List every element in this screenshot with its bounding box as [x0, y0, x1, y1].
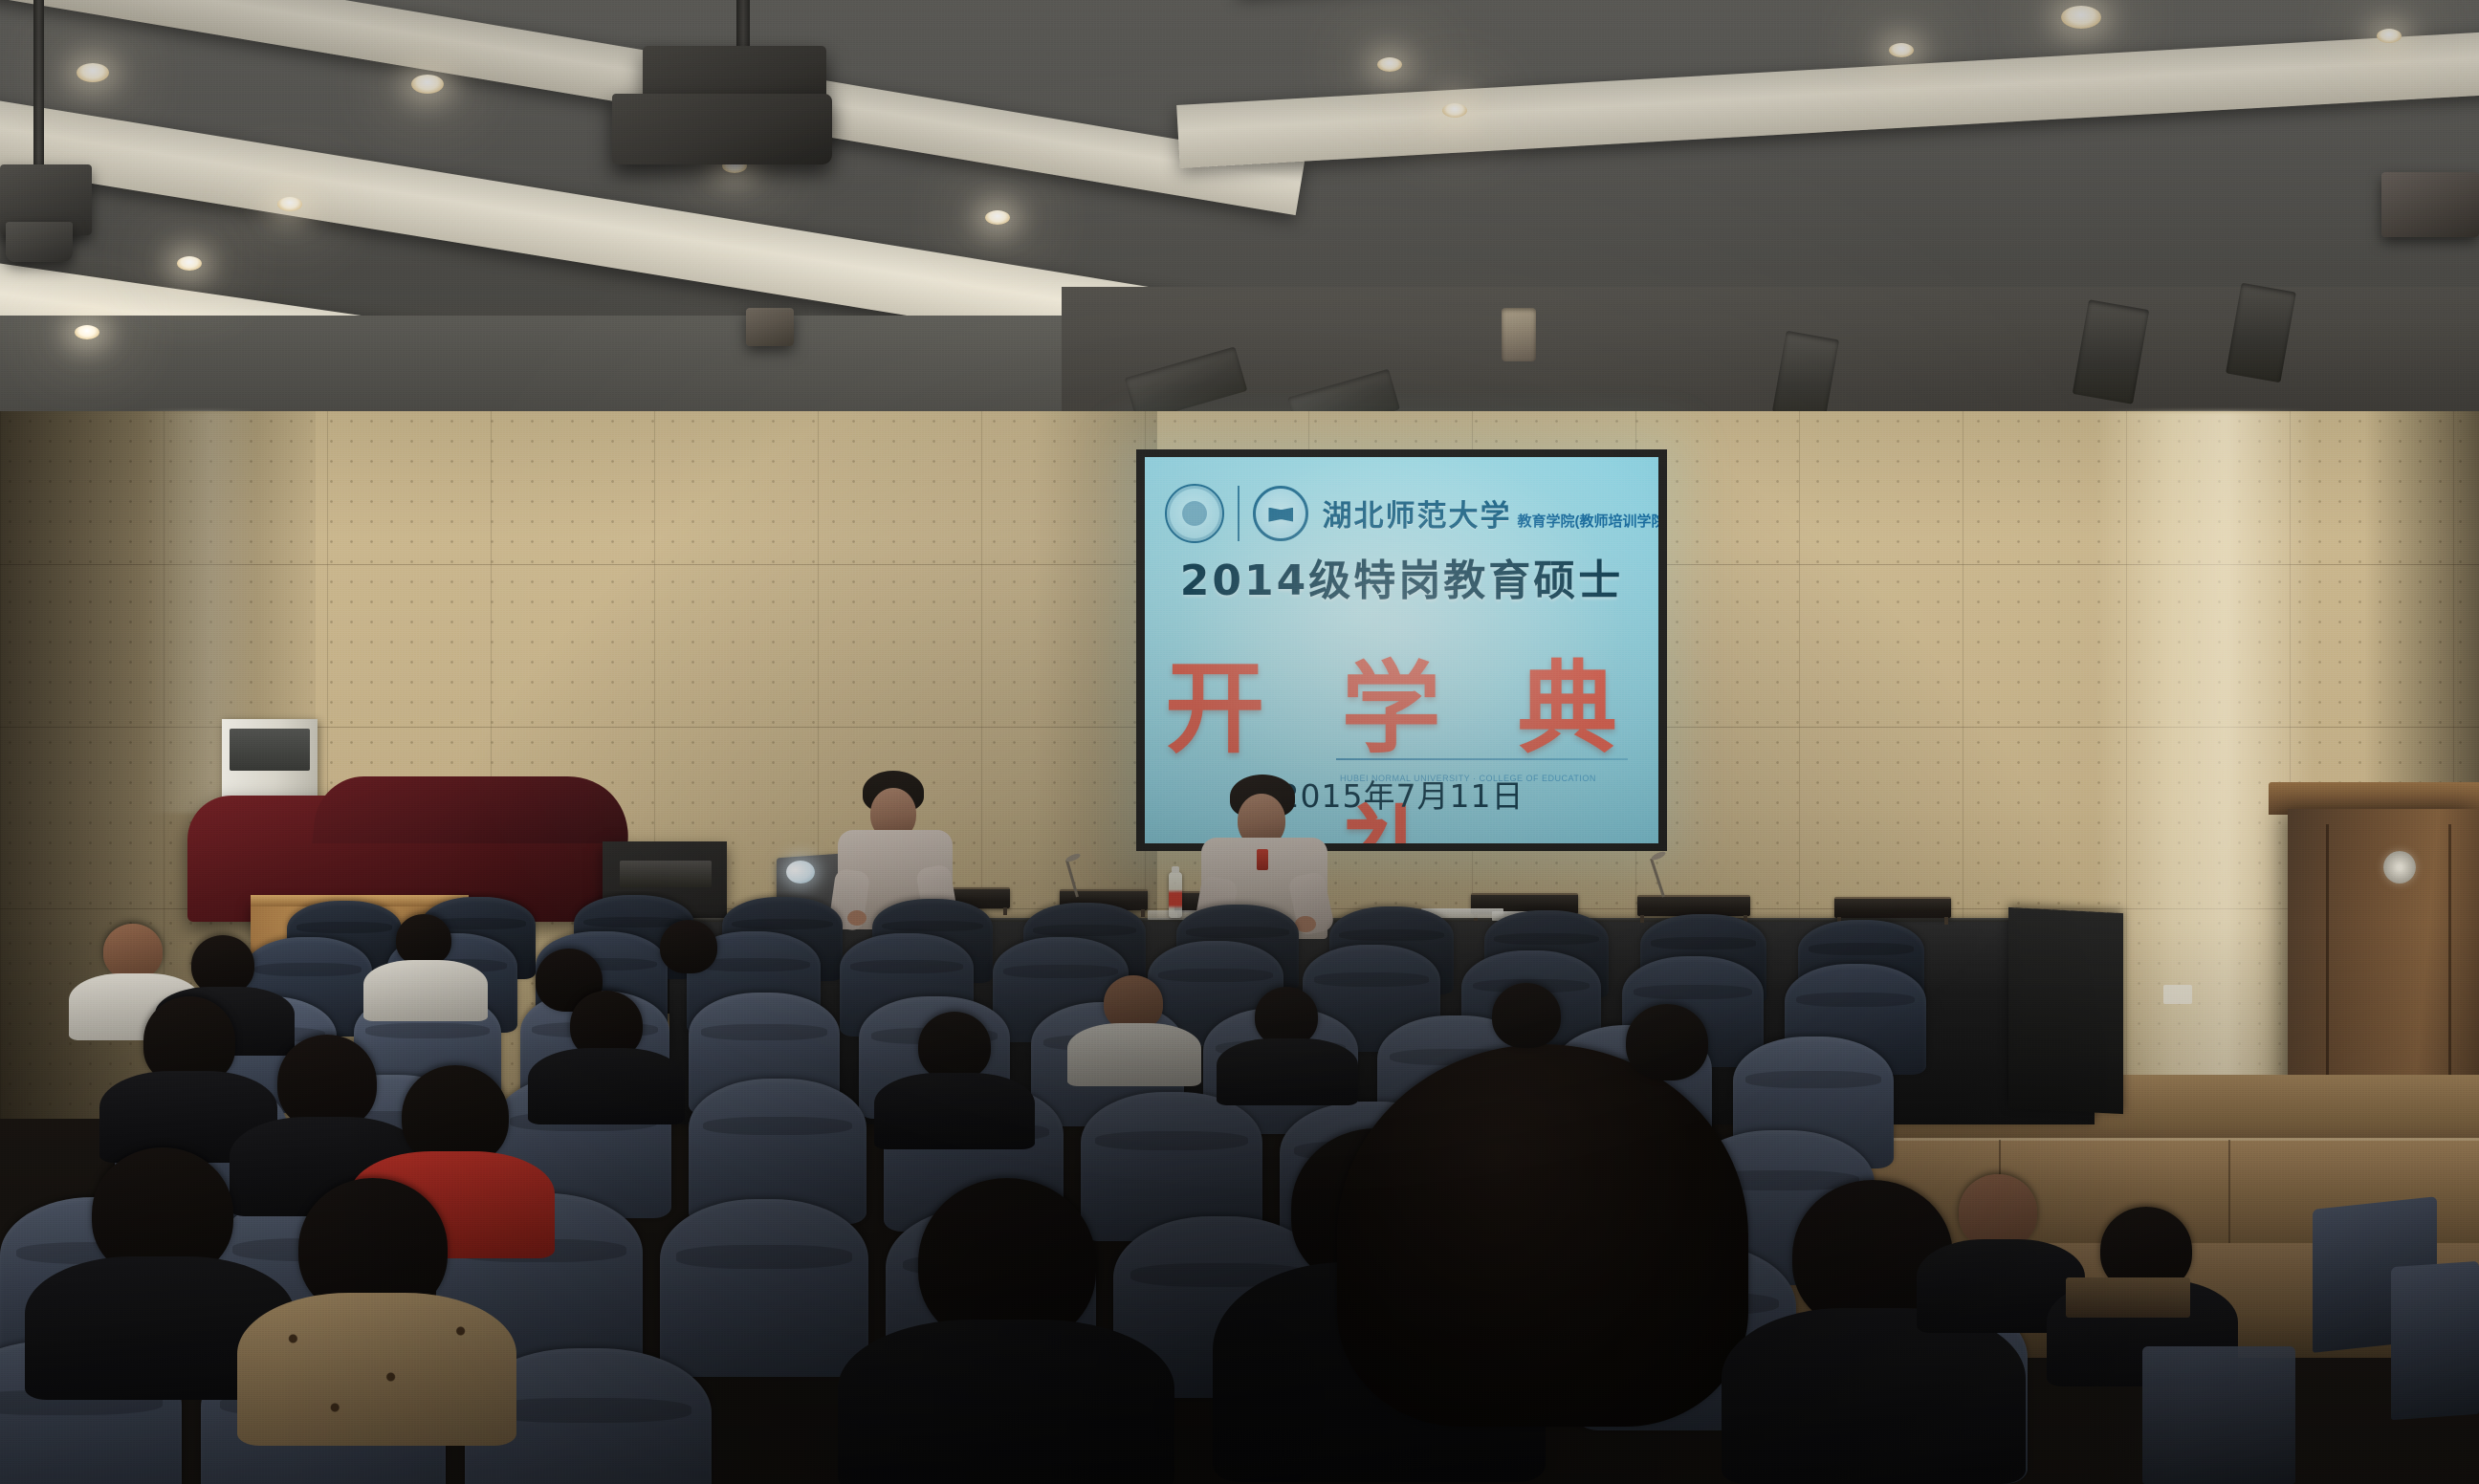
audience-head — [918, 1012, 991, 1080]
downlight-icon — [77, 63, 109, 82]
bottle-cap-icon — [1172, 866, 1179, 873]
downlight-icon — [177, 256, 202, 271]
downlight-icon — [1889, 43, 1914, 57]
ceiling-speaker-icon — [1502, 308, 1536, 361]
audience-shoulders — [528, 1048, 685, 1124]
university-seal-icon — [1165, 484, 1224, 543]
logo-divider — [1238, 486, 1239, 541]
ac-vent-grille — [230, 729, 310, 771]
audience-shoulders — [1217, 1038, 1358, 1105]
red-badge — [1257, 849, 1268, 870]
audience-head — [191, 935, 254, 994]
downlight-icon — [75, 325, 99, 339]
slide-logo-header: 湖北师范大学 教育学院(教师培训学院) — [1165, 474, 1627, 552]
seat[interactable] — [660, 1199, 868, 1377]
auditorium-photo: 湖北师范大学 教育学院(教师培训学院) HUBEI NORMAL UNIVERS… — [0, 0, 2479, 1484]
wall-spotlight-icon — [746, 308, 794, 346]
slide-institution-name: 湖北师范大学 — [1322, 491, 1511, 535]
slide-college-name: 教育学院(教师培训学院) — [1517, 511, 1658, 531]
audience-head — [396, 914, 451, 966]
audience-head — [1255, 987, 1318, 1046]
podium-emblem-icon — [2383, 851, 2416, 884]
downlight-icon — [277, 197, 302, 211]
audience-shoulders — [1722, 1308, 2026, 1484]
av-rack-panel — [620, 861, 712, 887]
aisle-desk-ledge — [2066, 1277, 2190, 1318]
piano-lid — [312, 776, 634, 843]
ceiling-cove-band — [1176, 25, 2479, 168]
slide-subtitle: 2014级特岗教育硕士 — [1145, 546, 1658, 607]
ceiling-speaker-icon — [2381, 172, 2479, 237]
downlight-icon — [2377, 29, 2402, 43]
downlight-icon — [2061, 6, 2101, 29]
audience-head — [277, 1035, 377, 1130]
audience-shoulders — [363, 960, 488, 1021]
audience-head — [1492, 983, 1561, 1048]
projector-icon — [612, 94, 832, 164]
aisle-chair[interactable] — [2142, 1346, 2295, 1484]
aisle-chair[interactable] — [2391, 1261, 2479, 1420]
downlight-icon — [1442, 103, 1467, 118]
ceiling-speaker-icon — [6, 222, 73, 262]
audience-shoulders — [838, 1320, 1174, 1484]
audience-head — [1959, 1174, 2037, 1249]
audience-head — [1626, 1004, 1708, 1080]
audience-shoulders — [1067, 1023, 1201, 1086]
audience-shoulders — [237, 1293, 516, 1446]
downlight-icon — [411, 75, 444, 94]
open-book-emblem-icon — [1253, 486, 1308, 541]
foreground-audience-head — [1337, 1044, 1748, 1427]
audience-head — [660, 920, 717, 973]
audience-shoulders — [874, 1073, 1035, 1149]
audience-head — [103, 924, 163, 979]
equipment-mount-rod — [33, 0, 44, 170]
downlight-icon — [1377, 57, 1402, 72]
downlight-icon — [985, 210, 1010, 225]
laptop-screen — [786, 861, 815, 884]
audience-area — [0, 891, 2479, 1484]
